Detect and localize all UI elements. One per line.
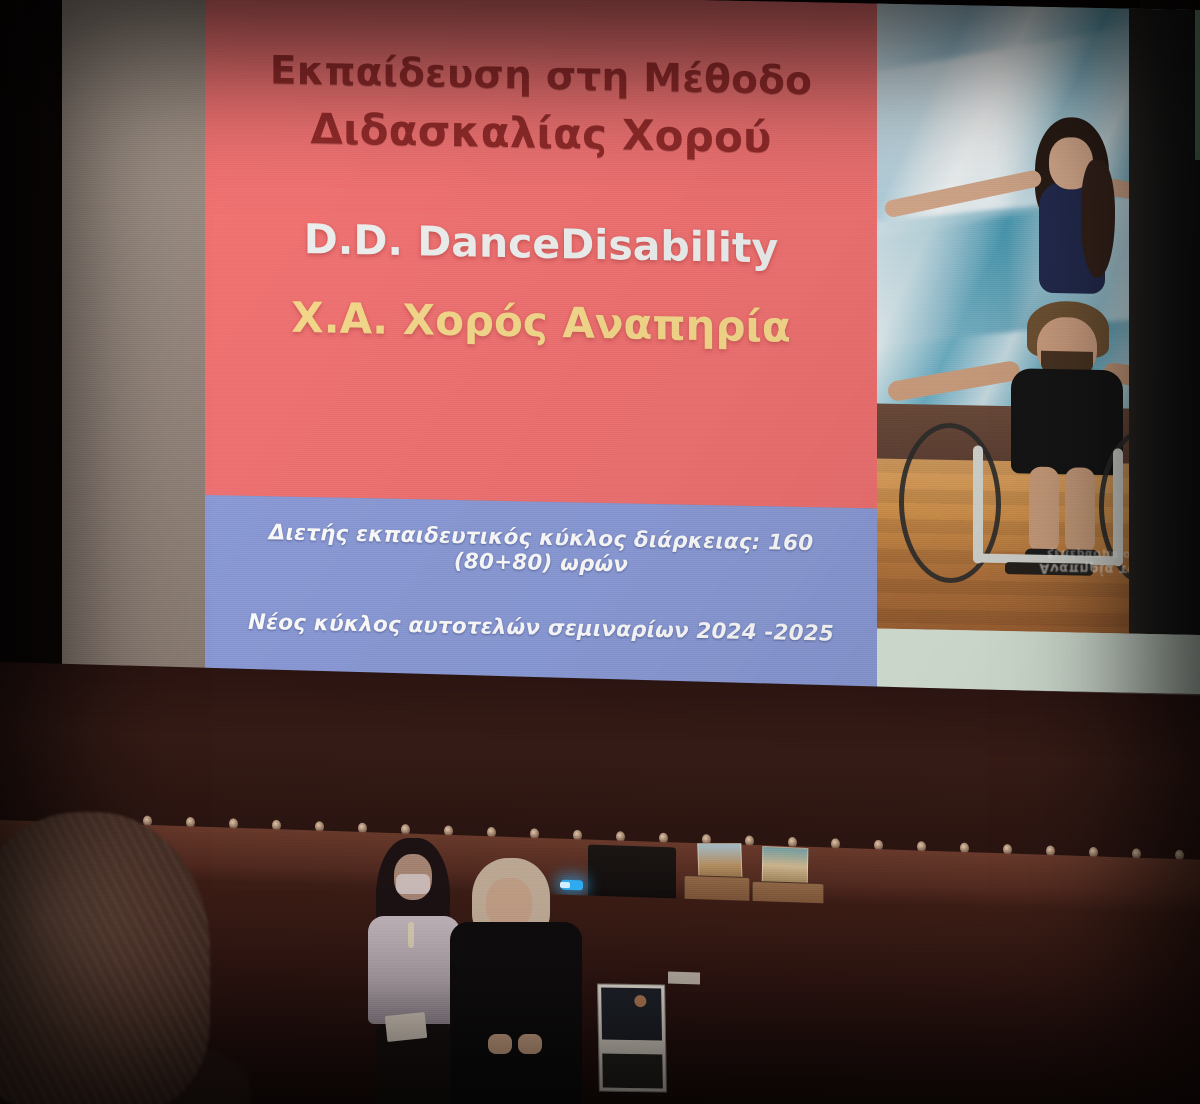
photo-green-sliver xyxy=(1195,10,1200,160)
poster-image-area xyxy=(601,988,662,1041)
presenter-right xyxy=(446,858,586,1104)
slide-pink-band: Εκπαίδευση στη Μέθοδο Διδασκαλίας Χορού … xyxy=(205,0,877,508)
dancer-wheelchair-leg-left xyxy=(1029,467,1059,554)
presenter-right-hand-right xyxy=(518,1034,542,1054)
poster-tag xyxy=(668,971,700,984)
presenter-right-coat xyxy=(450,922,582,1104)
slide-photo-column: Αναπηρία του ξεπέρασμα σε xyxy=(877,3,1200,694)
slide-mint-strip xyxy=(877,628,1200,694)
slide-brand-el: Χ.Α. Χορός Αναπηρία xyxy=(291,293,790,352)
slide-blue-band: Διετής εκπαιδευτικός κύκλος διάρκειας: 1… xyxy=(205,495,877,687)
foreground-viewer-head xyxy=(0,812,210,1104)
stage-front-poster xyxy=(597,983,667,1092)
presenter-left-necklace xyxy=(408,922,414,948)
poster-accent-dot xyxy=(634,995,646,1007)
presenter-left-paper xyxy=(385,1012,427,1042)
projected-slide: Εκπαίδευση στη Μέθοδο Διδασκαλίας Χορού … xyxy=(205,0,1200,694)
dancer-wheelchair-leg-right xyxy=(1065,467,1095,554)
slide-blue-line-2: Νέος κύκλος αυτοτελών σεμιναρίων 2024 -2… xyxy=(248,610,834,647)
slide-photo: Αναπηρία του ξεπέρασμα σε xyxy=(877,3,1200,635)
photo-dark-drape xyxy=(1129,9,1200,636)
poster-text-area xyxy=(602,1054,663,1089)
dancer-wheelchair-torso xyxy=(1011,368,1123,475)
slide-blue-line-1: Διετής εκπαιδευτικός κύκλος διάρκειας: 1… xyxy=(231,520,851,582)
slide-heading: Εκπαίδευση στη Μέθοδο Διδασκαλίας Χορού xyxy=(270,43,812,169)
slide-brand-en: D.D. DanceDisability xyxy=(304,215,778,273)
presenter-left-mask xyxy=(396,874,430,894)
photo-scene: Εκπαίδευση στη Μέθοδο Διδασκαλίας Χορού … xyxy=(0,0,1200,1104)
slide-heading-line2: Διδασκαλίας Χορού xyxy=(270,99,812,170)
slide-text-column: Εκπαίδευση στη Μέθοδο Διδασκαλίας Χορού … xyxy=(205,0,877,687)
slide-heading-line1: Εκπαίδευση στη Μέθοδο xyxy=(270,48,812,104)
dancer-standing-hair-side xyxy=(1081,160,1115,279)
presenter-right-hand-left xyxy=(488,1034,512,1054)
